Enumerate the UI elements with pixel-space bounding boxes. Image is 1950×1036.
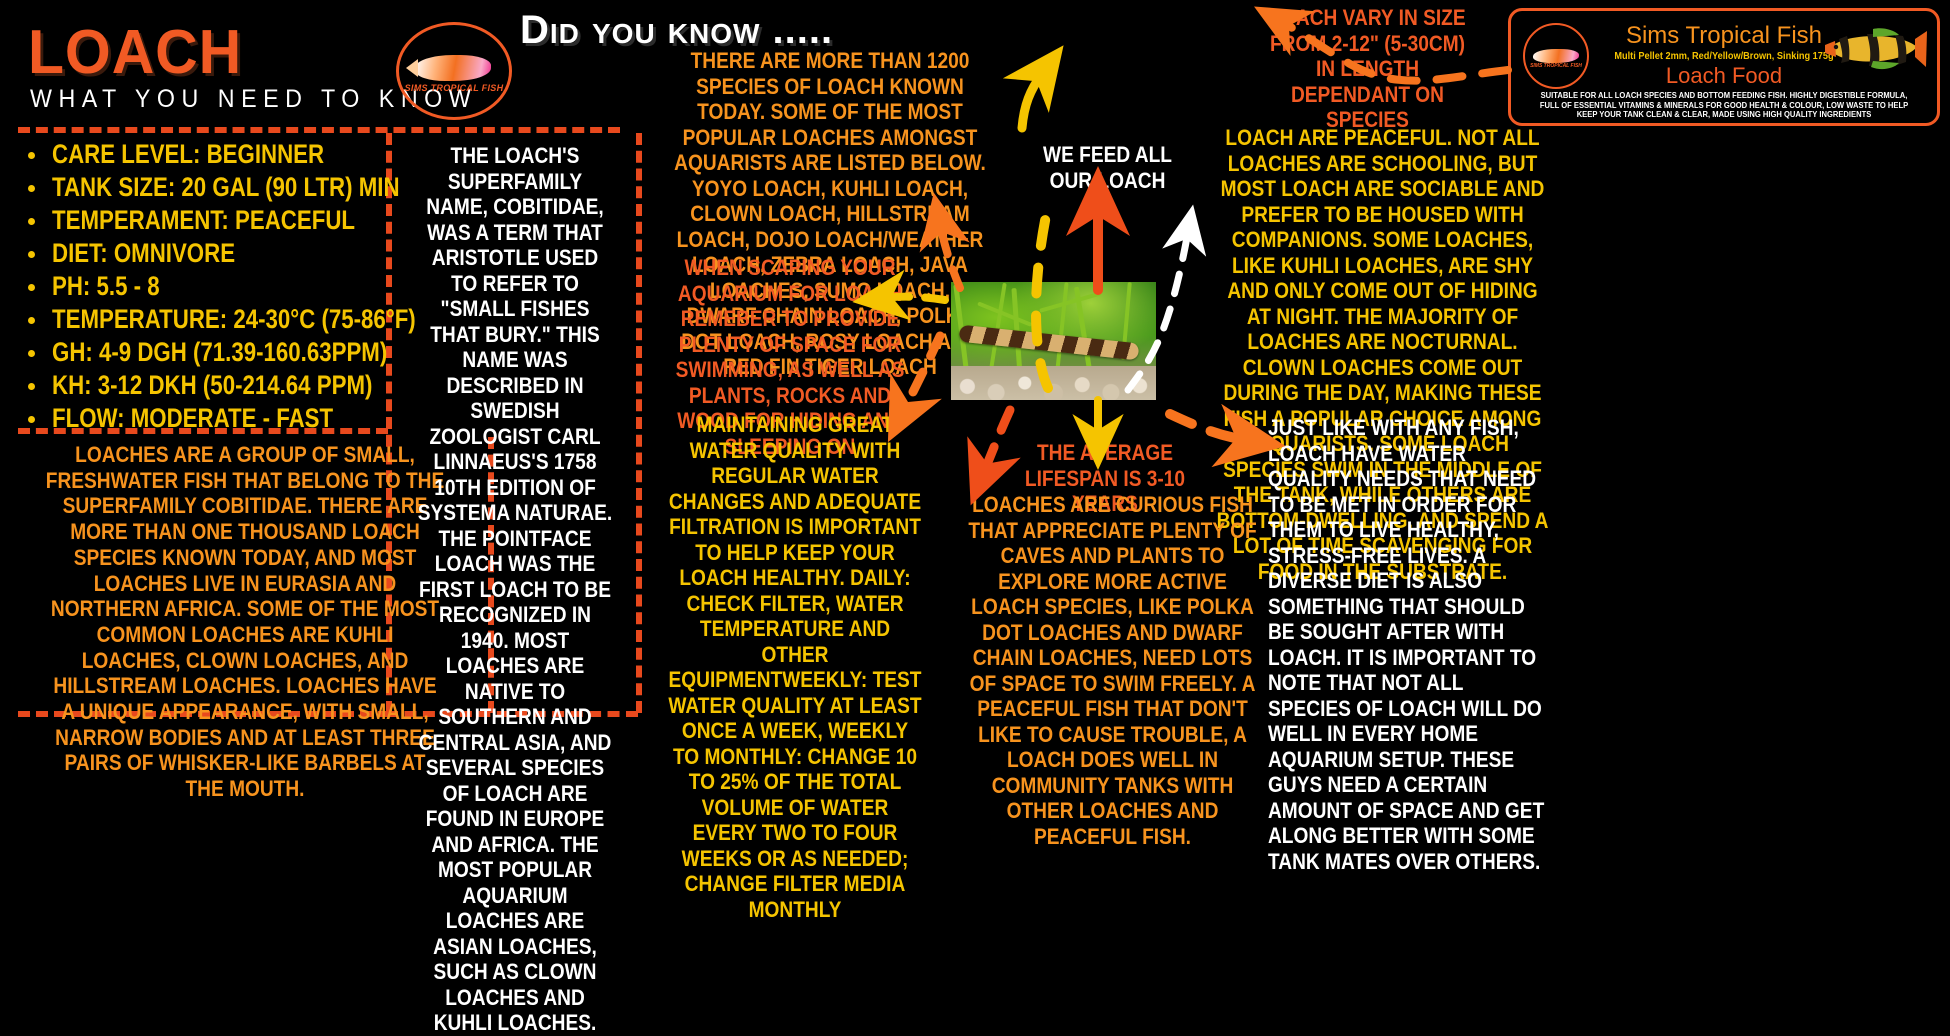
divider-spec-top bbox=[18, 127, 620, 133]
brand-logo-label: SIMS TROPICAL FISH bbox=[399, 83, 509, 93]
list-item: TEMPERAMENT: PEACEFUL bbox=[22, 206, 422, 236]
water-quality-paragraph: MAINTAINING GREAT WATER QUALITY WITH REG… bbox=[645, 412, 945, 922]
page-title: LOACH bbox=[28, 22, 242, 84]
product-blurb: SUITABLE FOR ALL LOACH SPECIES AND BOTTO… bbox=[1539, 91, 1910, 120]
aquarium-gravel bbox=[951, 366, 1156, 400]
history-paragraph: THE LOACH'S SUPERFAMILY NAME, COBITIDAE,… bbox=[400, 143, 630, 1036]
arrow-up-size bbox=[1022, 74, 1042, 128]
list-item: PH: 5.5 - 8 bbox=[22, 272, 422, 302]
curious-paragraph: LOACHES ARE CURIOUS FISH THAT APPRECIATE… bbox=[940, 492, 1285, 849]
care-paragraph: JUST LIKE WITH ANY FISH, LOACH HAVE WATE… bbox=[1268, 415, 1593, 874]
aquarium-photo bbox=[951, 282, 1156, 400]
list-item: FLOW: MODERATE - FAST bbox=[22, 404, 422, 434]
divider-column-2 bbox=[636, 133, 642, 713]
size-note: LOACH VARY IN SIZE FROM 2-12" (5-30CM) I… bbox=[1240, 5, 1495, 133]
list-item: KH: 3-12 DKH (50-214.64 PPM) bbox=[22, 371, 422, 401]
list-item: DIET: OMNIVORE bbox=[22, 239, 422, 269]
did-you-know-heading: Did you know ..... bbox=[520, 8, 833, 52]
brand-logo: SIMS TROPICAL FISH bbox=[396, 22, 512, 120]
care-spec-items: CARE LEVEL: BEGINNER TANK SIZE: 20 GAL (… bbox=[22, 140, 422, 434]
list-item: GH: 4-9 DGH (71.39-160.63PPM) bbox=[22, 338, 422, 368]
product-label: SIMS TROPICAL FISH Sims Tropical Fish Mu… bbox=[1508, 8, 1940, 126]
fish-icon bbox=[415, 55, 491, 81]
product-url: www.simstropicalfish.co.uk bbox=[1511, 121, 1937, 126]
list-item: CARE LEVEL: BEGINNER bbox=[22, 140, 422, 170]
list-item: TANK SIZE: 20 GAL (90 LTR) MIN bbox=[22, 173, 422, 203]
list-item: TEMPERATURE: 24-30°C (75-86°F) bbox=[22, 305, 422, 335]
feed-note: WE FEED ALL OUR LOACH bbox=[1020, 142, 1195, 194]
clown-loach-icon bbox=[1823, 27, 1927, 71]
infographic-poster: LOACH WHAT YOU NEED TO KNOW CARE LEVEL: … bbox=[0, 0, 1950, 900]
care-spec-list: CARE LEVEL: BEGINNER TANK SIZE: 20 GAL (… bbox=[22, 140, 422, 437]
